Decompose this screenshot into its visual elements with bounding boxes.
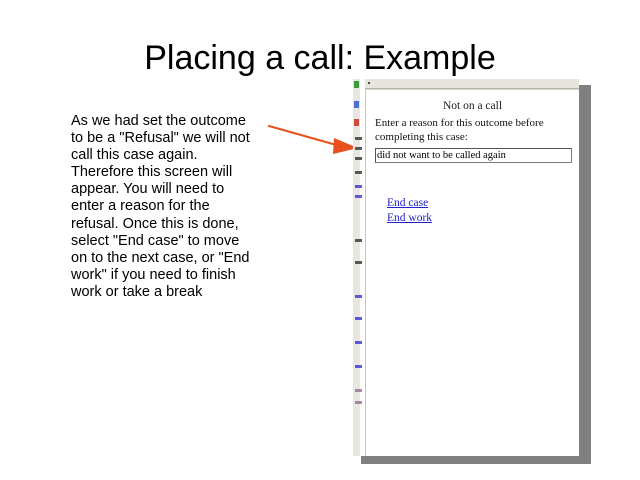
- embedded-app-screenshot: Not on a call Enter a reason for this ou…: [353, 79, 591, 464]
- browser-toolbar-strip: [365, 79, 579, 89]
- callout-arrow-icon: [268, 122, 360, 156]
- browser-window: Not on a call Enter a reason for this ou…: [353, 79, 579, 456]
- action-links-group: End case End work: [387, 196, 432, 226]
- background-page-sliver: [353, 79, 365, 456]
- slide-body-text: As we had set the outcome to be a "Refus…: [71, 113, 257, 301]
- reason-input[interactable]: [375, 148, 572, 163]
- end-work-link[interactable]: End work: [387, 211, 432, 225]
- slide-canvas: Placing a call: Example As we had set th…: [0, 0, 640, 480]
- dialog-instruction-text: Enter a reason for this outcome before c…: [375, 117, 570, 144]
- page-title: Placing a call: Example: [0, 38, 640, 78]
- dialog-heading: Not on a call: [375, 100, 570, 113]
- end-case-link[interactable]: End case: [387, 196, 432, 210]
- dialog-panel: Not on a call Enter a reason for this ou…: [365, 89, 579, 456]
